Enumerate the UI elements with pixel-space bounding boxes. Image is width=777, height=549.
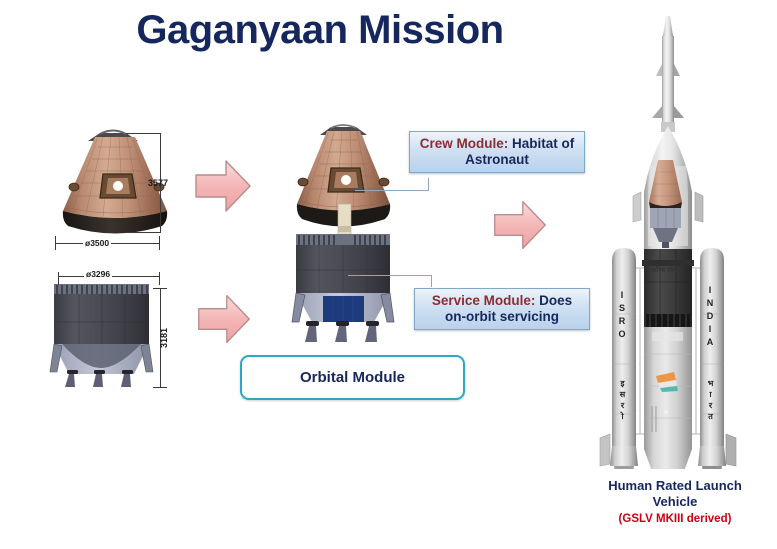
dimension-tick-crew-left: [55, 236, 56, 250]
caption-sub: (GSLV MKIII derived): [570, 512, 777, 526]
booster-right-label-india-hindi: भारत: [705, 378, 716, 422]
launch-vehicle-illustration: [578, 14, 768, 469]
dimension-tick-crew-bottom: [126, 232, 161, 233]
core-stage-label-hindi: लॉन्च यान: [652, 266, 677, 275]
launch-vehicle-caption: Human Rated Launch Vehicle (GSLV MKIII d…: [570, 478, 777, 526]
booster-left-label-isro-hindi: इसरो: [617, 378, 628, 422]
service-module-drawing: [48, 282, 168, 392]
page-title: Gaganyaan Mission: [0, 8, 640, 53]
service-module-height-label: 3181: [159, 328, 169, 348]
service-module-diameter-label: ø3296: [84, 269, 112, 279]
orbital-module-assembly: [284, 122, 402, 350]
dimension-tick-service-right: [159, 272, 160, 285]
dimension-tick-service-bottom: [153, 387, 167, 388]
leader-line-service-horizontal: [348, 275, 432, 276]
leader-line-crew-horizontal: [355, 190, 429, 191]
crew-module-height-label: 3577: [148, 178, 168, 188]
arrow-crew-module-to-assembly: [192, 155, 254, 217]
callout-crew-module[interactable]: Crew Module: Habitat of Astronaut: [409, 131, 585, 173]
callout-orbital-module-label: Orbital Module: [300, 369, 405, 386]
slide-canvas: Gaganyaan Mission: [0, 0, 777, 549]
dimension-tick-crew-right: [159, 236, 160, 250]
booster-left-label-isro: ISRO: [617, 290, 627, 342]
booster-right-label-india: INDIA: [705, 285, 715, 350]
callout-orbital-module[interactable]: Orbital Module: [240, 355, 465, 400]
dimension-tick-service-left: [58, 272, 59, 285]
dimension-tick-crew-top: [126, 133, 161, 134]
crew-module-diameter-label: ø3500: [83, 238, 111, 248]
arrow-service-module-to-assembly: [194, 290, 254, 348]
caption-line-2: Vehicle: [653, 494, 698, 509]
caption-line-1: Human Rated Launch: [608, 478, 742, 493]
callout-crew-module-highlight: Crew Module:: [420, 136, 509, 151]
dimension-tick-service-top: [153, 288, 167, 289]
callout-service-module[interactable]: Service Module: Does on-orbit servicing: [414, 288, 590, 330]
arrow-assembly-to-launch-vehicle: [489, 196, 551, 254]
leader-line-service-vertical: [431, 275, 432, 287]
callout-service-module-highlight: Service Module:: [432, 293, 536, 308]
